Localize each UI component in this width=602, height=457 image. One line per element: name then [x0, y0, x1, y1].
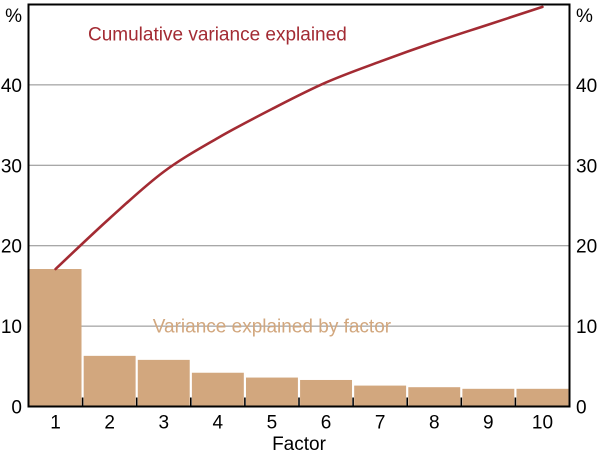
- bar: [354, 386, 406, 407]
- x-tick-label: 4: [213, 413, 224, 434]
- y-tick-label-left: 30: [1, 156, 22, 177]
- bar: [84, 356, 136, 407]
- x-tick-label: 10: [532, 413, 553, 434]
- x-tick-label: 8: [429, 413, 440, 434]
- y-tick-label-right: 30: [576, 156, 597, 177]
- y-tick-label-left: 0: [11, 398, 22, 419]
- y-tick-label-left: 40: [1, 76, 22, 97]
- x-tick-label: 6: [321, 413, 332, 434]
- bar: [246, 378, 298, 407]
- x-tick-label: 5: [267, 413, 278, 434]
- x-tick-label: 2: [104, 413, 115, 434]
- y-tick-label-right: 20: [576, 237, 597, 258]
- y-tick-label-right: 40: [576, 76, 597, 97]
- bar: [462, 389, 514, 407]
- x-axis-title: Factor: [272, 434, 327, 455]
- x-tick-label: 9: [483, 413, 494, 434]
- bar: [516, 389, 568, 407]
- scree-plot: 010203040 010203040 12345678910 % % Fact…: [0, 0, 602, 457]
- bar: [408, 387, 460, 406]
- bar: [138, 360, 190, 407]
- x-tick-label: 7: [375, 413, 386, 434]
- y-tick-label-right: 0: [576, 398, 587, 419]
- y-tick-label-left: 20: [1, 237, 22, 258]
- x-tick-label: 1: [50, 413, 61, 434]
- bar: [30, 269, 82, 406]
- y-tick-label-right: 10: [576, 317, 597, 338]
- y-axis-left-unit-label: %: [5, 6, 22, 27]
- chart-container: 010203040 010203040 12345678910 % % Fact…: [0, 0, 602, 457]
- x-tick-label: 3: [158, 413, 169, 434]
- y-axis-right-unit-label: %: [576, 6, 593, 27]
- y-tick-label-left: 10: [1, 317, 22, 338]
- variance-by-factor-label: Variance explained by factor: [153, 317, 392, 338]
- bar: [300, 380, 352, 407]
- bar: [192, 373, 244, 407]
- cumulative-variance-label: Cumulative variance explained: [88, 25, 347, 46]
